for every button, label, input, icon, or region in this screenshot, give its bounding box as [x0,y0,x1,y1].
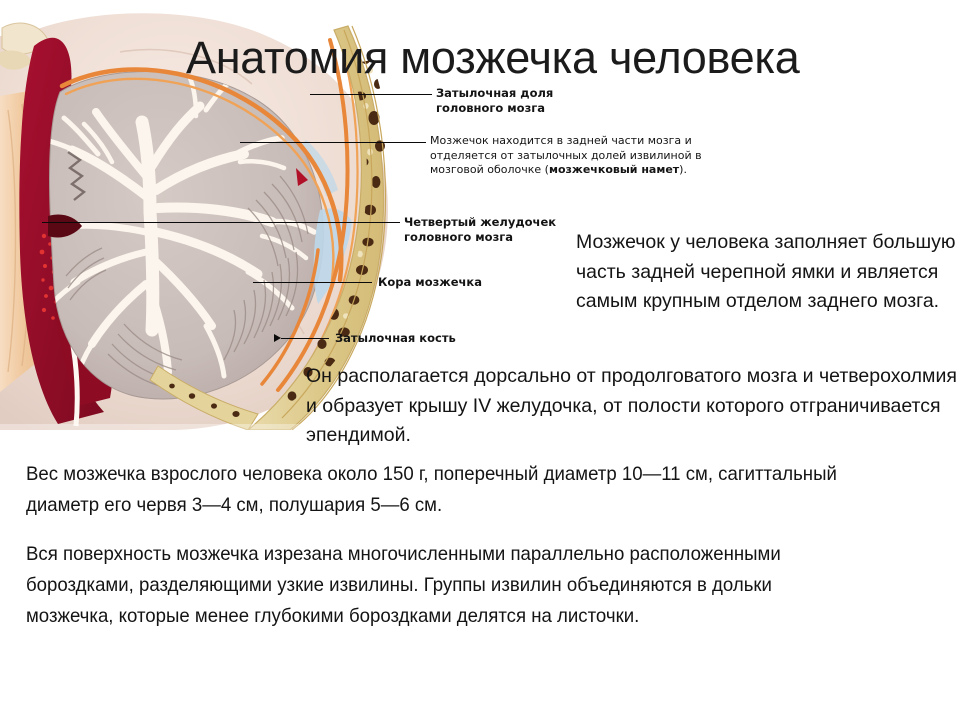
callout-fourth-ventricle-line1: Четвертый желудочек [404,215,556,230]
callout-occipital-bone: Затылочная кость [335,331,456,346]
page-title: Анатомия мозжечка человека [186,34,956,81]
note-line3-prefix: мозговой оболочке ( [430,163,549,176]
arrowhead-occipital-bone [274,334,281,342]
slide-root: Анатомия мозжечка человека Затылочная до… [0,0,960,720]
leader-line-fourth-ventricle [42,222,400,223]
paragraph-dorsal-text: Он располагается дорсально от продолгова… [306,362,958,451]
paragraph-surface-text: Вся поверхность мозжечка изрезана многоч… [26,539,847,633]
leader-line-tentorium-note [240,142,426,143]
note-line-3: мозговой оболочке (мозжечковый намет). [430,163,702,178]
paragraph-dorsal: Он располагается дорсально от продолгова… [306,362,958,451]
note-line-2: отделяется от затылочных долей извилиной… [430,149,702,164]
paragraph-surface: Вся поверхность мозжечка изрезана многоч… [26,539,847,633]
leader-line-occipital-bone [281,338,329,339]
callout-tentorium-note: Мозжечок находится в задней части мозга … [430,134,702,178]
callout-occipital-lobe-line2: головного мозга [436,101,553,116]
note-line3-bold: мозжечковый намет [549,163,679,176]
callout-fourth-ventricle-line2: головного мозга [404,230,556,245]
cerebellum [30,72,323,399]
callout-cerebellar-cortex: Кора мозжечка [378,275,482,290]
paragraph-weight: Вес мозжечка взрослого человека около 15… [26,459,914,521]
paragraph-weight-text: Вес мозжечка взрослого человека около 15… [26,459,914,521]
note-line3-suffix: ). [679,163,687,176]
note-line-1: Мозжечок находится в задней части мозга … [430,134,702,149]
leader-line-occipital-lobe [310,94,432,95]
leader-line-cerebellar-cortex [253,282,372,283]
paragraph-right-column-text: Мозжечок у человека заполняет большую ча… [576,228,956,317]
callout-occipital-lobe-line1: Затылочная доля [436,86,553,101]
paragraph-right-column: Мозжечок у человека заполняет большую ча… [576,228,956,317]
callout-fourth-ventricle: Четвертый желудочек головного мозга [404,215,556,245]
callout-occipital-lobe: Затылочная доля головного мозга [436,86,553,116]
